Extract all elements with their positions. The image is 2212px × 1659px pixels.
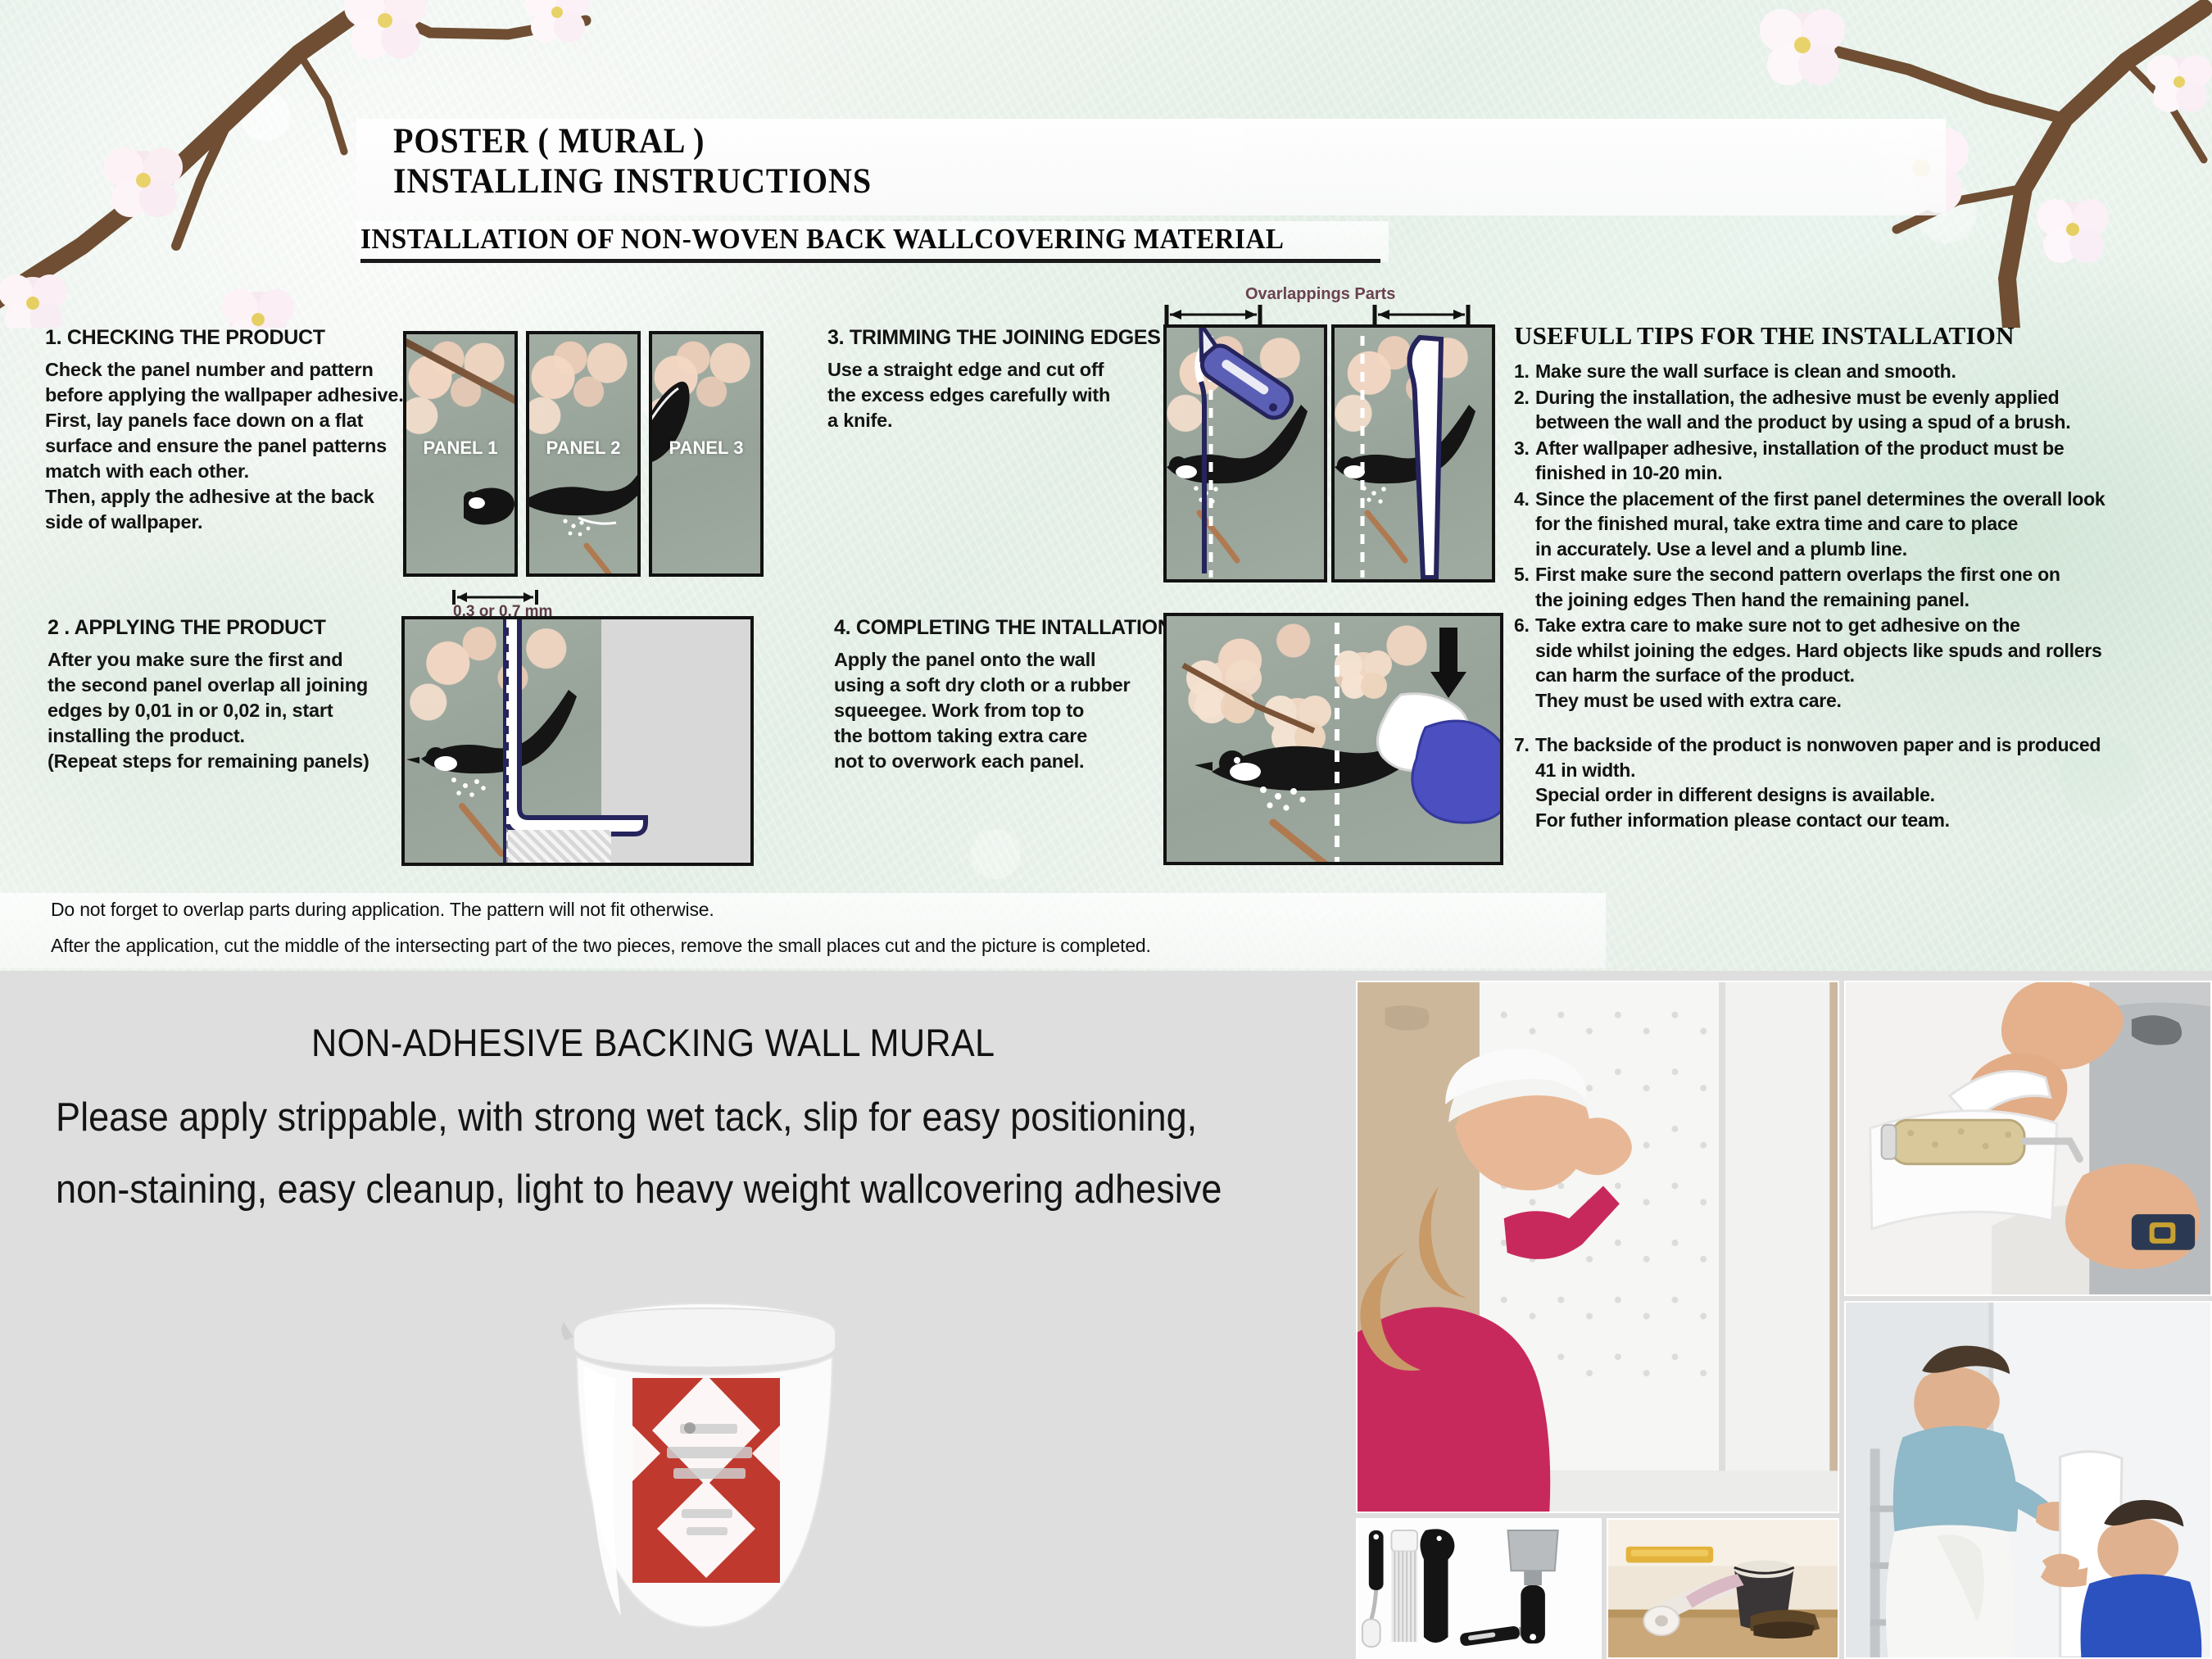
panel-1-slice: PANEL 1 (403, 331, 518, 577)
tip-text: After wallpaper adhesive, installation o… (1535, 436, 2161, 486)
tip-item: 7. The backside of the product is nonwov… (1514, 732, 2161, 832)
photo-two-people-hanging-panel (1844, 1301, 2212, 1659)
overlap-fold-outline (501, 619, 649, 865)
tip-text: The backside of the product is nonwoven … (1535, 732, 2161, 832)
tip-number: 1. (1514, 359, 1535, 384)
mural-bird-with-straight-edge (1335, 328, 1495, 582)
photo-wallpaper-tool-set (1356, 1518, 1602, 1659)
step-4-body: Apply the panel onto the wall using a so… (834, 647, 1154, 774)
tip-text: Take extra care to make sure not to get … (1535, 613, 2161, 713)
tip-item: 4. Since the placement of the first pane… (1514, 487, 2161, 562)
step-1-text: 1. CHECKING THE PRODUCT Check the panel … (45, 326, 414, 535)
step-3-heading: 3. TRIMMING THE JOINING EDGES (827, 326, 1147, 350)
page-title-line-1: POSTER ( MURAL ) (393, 121, 705, 161)
straight-edge-icon (1410, 338, 1441, 578)
tip-number: 6. (1514, 613, 1535, 713)
step-4-heading: 4. COMPLETING THE INTALLATION (834, 616, 1154, 640)
tip-text: Since the placement of the first panel d… (1535, 487, 2161, 562)
tip-number: 3. (1514, 436, 1535, 486)
product-description: Please apply strippable, with strong wet… (56, 1081, 1231, 1226)
tip-item: 2. During the installation, the adhesive… (1514, 385, 2161, 435)
tip-number: 5. (1514, 562, 1535, 612)
photo-paste-roller-on-wall (1844, 981, 2212, 1296)
title-block: POSTER ( MURAL ) INSTALLING INSTRUCTIONS (356, 119, 1946, 215)
step-4-text: 4. COMPLETING THE INTALLATION Apply the … (834, 616, 1154, 774)
tip-item: 3. After wallpaper adhesive, installatio… (1514, 436, 2161, 486)
tip-number: 4. (1514, 487, 1535, 562)
step-2-overlap-diagram (401, 616, 754, 866)
subtitle-underline (360, 259, 1380, 263)
step-1-heading: 1. CHECKING THE PRODUCT (45, 326, 414, 350)
step-2-text: 2 . APPLYING THE PRODUCT After you make … (48, 616, 416, 774)
tip-number: 7. (1514, 732, 1535, 832)
installation-instruction-sheet: POSTER ( MURAL ) INSTALLING INSTRUCTIONS… (0, 0, 2212, 971)
step-3-body: Use a straight edge and cut off the exce… (827, 357, 1147, 433)
photo-grid (1356, 981, 2212, 1659)
tip-item: 5. First make sure the second pattern ov… (1514, 562, 2161, 612)
gloved-hand-icon (1412, 721, 1503, 823)
panel-3-label: PANEL 3 (652, 437, 760, 459)
step-1-body: Check the panel number and pattern befor… (45, 357, 414, 535)
down-arrow-icon (1430, 628, 1466, 698)
tip-item: 6. Take extra care to make sure not to g… (1514, 613, 2161, 713)
hatched-waste-area (508, 830, 611, 863)
panel-3-slice: PANEL 3 (649, 331, 764, 577)
tip-text: First make sure the second pattern overl… (1535, 562, 2161, 612)
brushes-icon (1751, 1610, 1820, 1639)
photo-woman-hanging-wallpaper (1356, 981, 1839, 1513)
panel-2-label: PANEL 2 (529, 437, 637, 459)
overlapping-parts-label: Ovarlappings Parts (1245, 285, 1395, 304)
tips-heading: USEFULL TIPS FOR THE INSTALLATION (1514, 321, 2015, 351)
panel-layout-diagram: PANEL 1 PANEL 2 PANEL 3 (403, 331, 776, 592)
step-3-text: 3. TRIMMING THE JOINING EDGES Use a stra… (827, 326, 1147, 433)
panel-1-label: PANEL 1 (406, 437, 514, 459)
tip-text: During the installation, the adhesive mu… (1535, 385, 2161, 435)
photo-paste-bucket-and-brushes (1607, 1518, 1839, 1659)
footnote-line-2: After the application, cut the middle of… (51, 935, 1151, 957)
tip-item: 1. Make sure the wall surface is clean a… (1514, 359, 2161, 384)
smoothing-brush-icon (1391, 1530, 1417, 1642)
footnote-line-1: Do not forget to overlap parts during ap… (51, 899, 714, 921)
step-4-diagram-squeegee (1163, 613, 1503, 865)
cut-dashed-line (506, 619, 510, 863)
mural-bird-with-gloved-hand (1167, 616, 1503, 865)
step-2-heading: 2 . APPLYING THE PRODUCT (48, 616, 416, 640)
tip-number: 2. (1514, 385, 1535, 435)
page-subtitle: INSTALLATION OF NON-WOVEN BACK WALLCOVER… (360, 223, 1284, 256)
panel-2-slice: PANEL 2 (526, 331, 641, 577)
page-title-line-2: INSTALLING INSTRUCTIONS (393, 161, 872, 202)
overlap-measure-arrows-icon (1163, 305, 1507, 326)
product-heading: NON-ADHESIVE BACKING WALL MURAL (311, 1020, 995, 1065)
mural-bird-with-knife (1167, 328, 1327, 582)
step-3-diagram-knife (1163, 324, 1327, 582)
bucket-label (632, 1375, 780, 1583)
tips-list: 1. Make sure the wall surface is clean a… (1514, 359, 2161, 833)
adhesive-bucket-icon (541, 1286, 868, 1659)
step-2-body: After you make sure the first and the se… (48, 647, 416, 774)
step-3-diagram-straight-edge (1331, 324, 1495, 582)
tip-text: Make sure the wall surface is clean and … (1535, 359, 2161, 384)
